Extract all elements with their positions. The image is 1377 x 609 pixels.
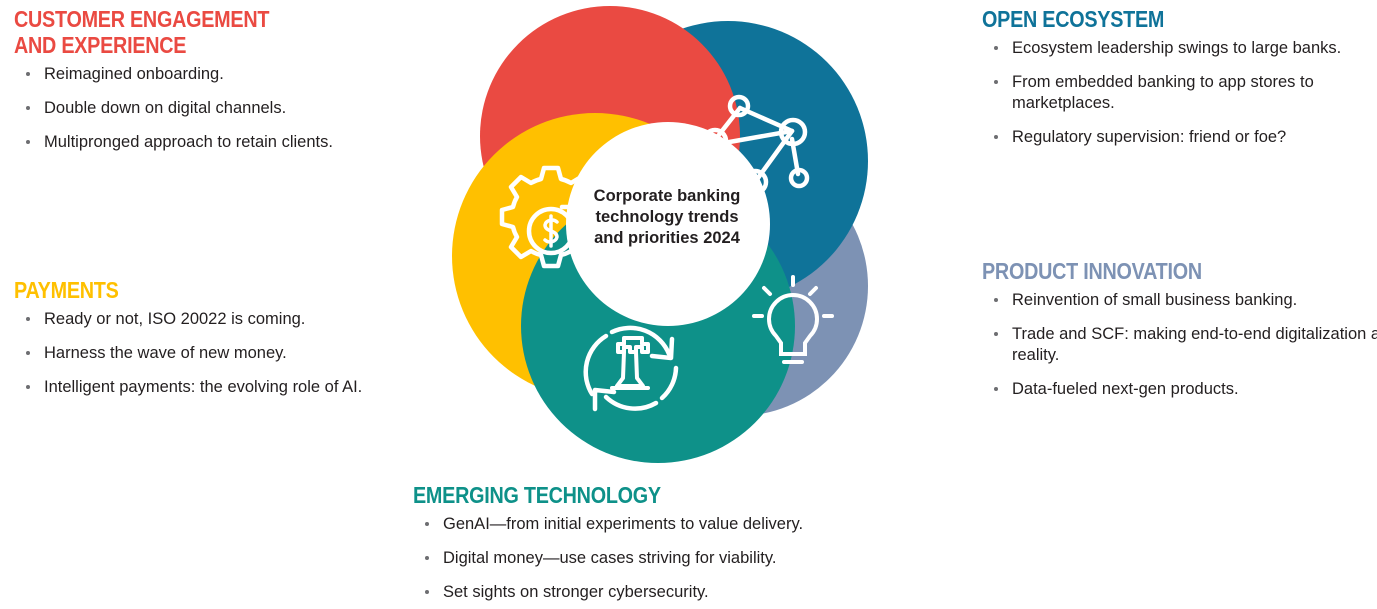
list-item: Reimagined onboarding. xyxy=(14,64,414,85)
bullet-list: Reinvention of small business banking. T… xyxy=(982,290,1377,400)
list-item-label: Set sights on stronger cybersecurity. xyxy=(443,583,709,601)
bullet-dot-icon xyxy=(425,556,429,560)
bullet-list: Ready or not, ISO 20022 is coming. Harne… xyxy=(14,309,434,398)
list-item-label: From embedded banking to app stores to m… xyxy=(1012,73,1314,112)
list-item: Ecosystem leadership swings to large ban… xyxy=(982,38,1372,59)
section-heading: CUSTOMER ENGAGEMENT AND EXPERIENCE xyxy=(14,6,358,58)
center-hub-label: Corporate banking technology trends and … xyxy=(577,186,757,249)
section-heading: OPEN ECOSYSTEM xyxy=(982,6,1317,32)
section-heading: PRODUCT INNOVATION xyxy=(982,258,1326,284)
list-item-label: Double down on digital channels. xyxy=(44,99,286,117)
bullet-list: Reimagined onboarding. Double down on di… xyxy=(14,64,414,153)
bullet-dot-icon xyxy=(994,298,998,302)
bullet-dot-icon xyxy=(994,80,998,84)
list-item-label: Multipronged approach to retain clients. xyxy=(44,133,333,151)
list-item: GenAI—from initial experiments to value … xyxy=(413,514,883,535)
bullet-dot-icon xyxy=(425,522,429,526)
bullet-dot-icon xyxy=(994,135,998,139)
list-item-label: Trade and SCF: making end-to-end digital… xyxy=(1012,325,1377,364)
section-heading: PAYMENTS xyxy=(14,277,375,303)
list-item-label: Digital money—use cases striving for via… xyxy=(443,549,776,567)
list-item: Harness the wave of new money. xyxy=(14,343,434,364)
list-item-label: Reimagined onboarding. xyxy=(44,65,224,83)
bullet-dot-icon xyxy=(26,385,30,389)
list-item-label: Ready or not, ISO 20022 is coming. xyxy=(44,310,305,328)
list-item: Ready or not, ISO 20022 is coming. xyxy=(14,309,434,330)
list-item: Set sights on stronger cybersecurity. xyxy=(413,582,883,603)
list-item: Double down on digital channels. xyxy=(14,98,414,119)
list-item-label: Regulatory supervision: friend or foe? xyxy=(1012,128,1286,146)
bullet-dot-icon xyxy=(26,317,30,321)
section-heading: EMERGING TECHNOLOGY xyxy=(413,482,817,508)
list-item-label: Data-fueled next-gen products. xyxy=(1012,380,1239,398)
list-item: Regulatory supervision: friend or foe? xyxy=(982,127,1372,148)
section-payments: PAYMENTS Ready or not, ISO 20022 is comi… xyxy=(14,277,434,398)
section-emerging-technology: EMERGING TECHNOLOGY GenAI—from initial e… xyxy=(413,482,883,603)
section-open-ecosystem: OPEN ECOSYSTEM Ecosystem leadership swin… xyxy=(982,6,1372,148)
bullet-list: GenAI—from initial experiments to value … xyxy=(413,514,883,603)
list-item: Intelligent payments: the evolving role … xyxy=(14,377,434,398)
bullet-dot-icon xyxy=(26,106,30,110)
list-item-label: Ecosystem leadership swings to large ban… xyxy=(1012,39,1341,57)
list-item: Trade and SCF: making end-to-end digital… xyxy=(982,324,1377,366)
bullet-dot-icon xyxy=(994,46,998,50)
list-item: Digital money—use cases striving for via… xyxy=(413,548,883,569)
bullet-dot-icon xyxy=(26,351,30,355)
bullet-dot-icon xyxy=(994,332,998,336)
list-item-label: Reinvention of small business banking. xyxy=(1012,291,1297,309)
list-item: From embedded banking to app stores to m… xyxy=(982,72,1372,114)
list-item: Data-fueled next-gen products. xyxy=(982,379,1377,400)
list-item: Multipronged approach to retain clients. xyxy=(14,132,414,153)
infographic-canvas: CUSTOMER ENGAGEMENT AND EXPERIENCE Reima… xyxy=(0,0,1377,609)
section-product-innovation: PRODUCT INNOVATION Reinvention of small … xyxy=(982,258,1377,400)
bullet-dot-icon xyxy=(994,387,998,391)
bullet-dot-icon xyxy=(425,590,429,594)
list-item-label: GenAI—from initial experiments to value … xyxy=(443,515,803,533)
list-item-label: Harness the wave of new money. xyxy=(44,344,287,362)
list-item: Reinvention of small business banking. xyxy=(982,290,1377,311)
bullet-list: Ecosystem leadership swings to large ban… xyxy=(982,38,1372,148)
list-item-label: Intelligent payments: the evolving role … xyxy=(44,378,362,396)
bullet-dot-icon xyxy=(26,140,30,144)
section-customer-engagement-and-experience: CUSTOMER ENGAGEMENT AND EXPERIENCE Reima… xyxy=(14,6,414,153)
bullet-dot-icon xyxy=(26,72,30,76)
